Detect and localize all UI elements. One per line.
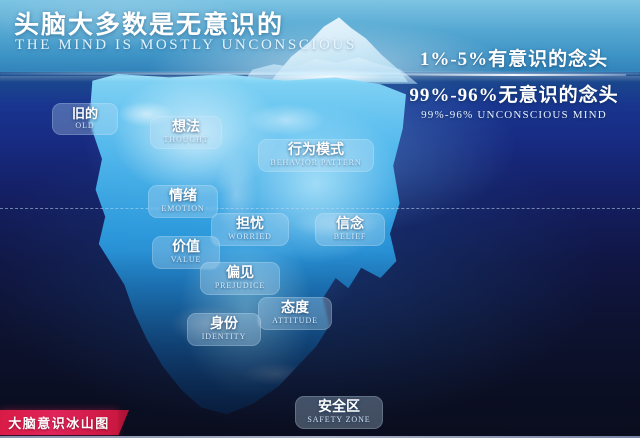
- label-cn: 担忧: [220, 217, 280, 232]
- label-cn: 行为模式: [267, 143, 365, 158]
- label-en: OLD: [61, 121, 109, 130]
- label-en: ATTITUDE: [267, 316, 323, 325]
- page-title-cn: 头脑大多数是无意识的: [14, 5, 284, 41]
- statistics-block: 1%-5%有意识的念头 99%-96%无意识的念头 99%-96% UNCONS…: [398, 44, 630, 121]
- label-cn: 身份: [196, 317, 252, 332]
- label-en: THOUGHT: [159, 135, 213, 144]
- label-cn: 态度: [267, 301, 323, 316]
- label-cn: 信念: [324, 217, 376, 232]
- label-chip-attitude[interactable]: 态度 ATTITUDE: [258, 297, 332, 330]
- label-en: EMOTION: [157, 204, 209, 213]
- label-chip-old[interactable]: 旧的 OLD: [52, 103, 118, 135]
- label-chip-prejudice[interactable]: 偏见 PREJUDICE: [200, 262, 280, 295]
- label-en: BELIEF: [324, 232, 376, 241]
- label-chip-emotion[interactable]: 情绪 EMOTION: [148, 185, 218, 218]
- label-cn: 价值: [161, 240, 211, 255]
- iceberg-infographic: 头脑大多数是无意识的 THE MIND IS MOSTLY UNCONSCIOU…: [0, 0, 640, 438]
- label-chip-safety-zone[interactable]: 安全区 SAFETY ZONE: [295, 396, 383, 429]
- label-en: IDENTITY: [196, 332, 252, 341]
- page-title-en: THE MIND IS MOSTLY UNCONSCIOUS: [15, 37, 357, 54]
- statistics-divider: [402, 74, 626, 76]
- label-cn: 偏见: [209, 266, 271, 281]
- subconscious-divider-line: [0, 208, 640, 209]
- label-en: PREJUDICE: [209, 281, 271, 290]
- label-chip-identity[interactable]: 身份 IDENTITY: [187, 313, 261, 346]
- label-chip-worried[interactable]: 担忧 WORRIED: [211, 213, 289, 246]
- conscious-percent-label: 1%-5%有意识的念头: [398, 44, 630, 71]
- source-badge-text: 大脑意识冰山图: [8, 413, 110, 432]
- unconscious-percent-label-cn: 99%-96%无意识的念头: [398, 80, 630, 107]
- label-cn: 想法: [159, 120, 213, 135]
- label-cn: 安全区: [304, 400, 374, 415]
- label-cn: 旧的: [61, 107, 109, 121]
- label-chip-belief[interactable]: 信念 BELIEF: [315, 213, 385, 246]
- label-en: WORRIED: [220, 232, 280, 241]
- source-badge: 大脑意识冰山图: [0, 410, 118, 435]
- label-chip-behavior-pattern[interactable]: 行为模式 BEHAVIOR PATTERN: [258, 139, 374, 172]
- label-en: BEHAVIOR PATTERN: [267, 158, 365, 167]
- label-chip-thought[interactable]: 想法 THOUGHT: [150, 116, 222, 149]
- label-cn: 情绪: [157, 189, 209, 204]
- unconscious-percent-label-en: 99%-96% UNCONSCIOUS MIND: [398, 109, 630, 121]
- label-en: SAFETY ZONE: [304, 415, 374, 424]
